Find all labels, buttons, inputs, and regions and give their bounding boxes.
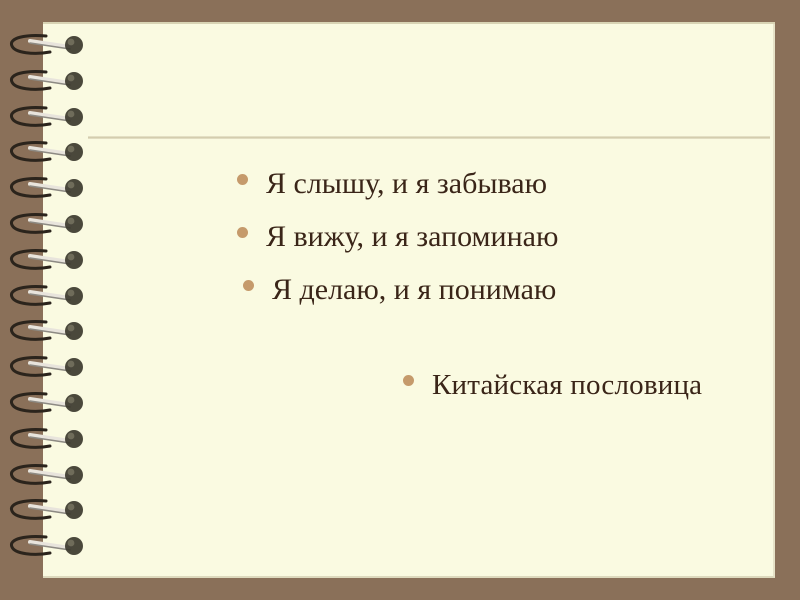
slide-content: Я слышу, и я забываю Я вижу, и я запомин… [0,0,800,600]
bullet-dot-icon [237,227,248,238]
attribution-label: Китайская пословица [432,371,702,400]
list-item-label: Я слышу, и я забываю [266,169,547,199]
list-item: Я слышу, и я забываю [237,169,547,199]
bullet-dot-icon [403,375,414,386]
list-item: Я вижу, и я запоминаю [237,222,558,252]
slide-canvas: Я слышу, и я забываю Я вижу, и я запомин… [0,0,800,600]
list-item: Я делаю, и я понимаю [243,275,556,305]
list-item-label: Я вижу, и я запоминаю [266,222,558,252]
attribution-item: Китайская пословица [403,371,702,400]
bullet-dot-icon [237,174,248,185]
bullet-dot-icon [243,280,254,291]
list-item-label: Я делаю, и я понимаю [272,275,556,305]
